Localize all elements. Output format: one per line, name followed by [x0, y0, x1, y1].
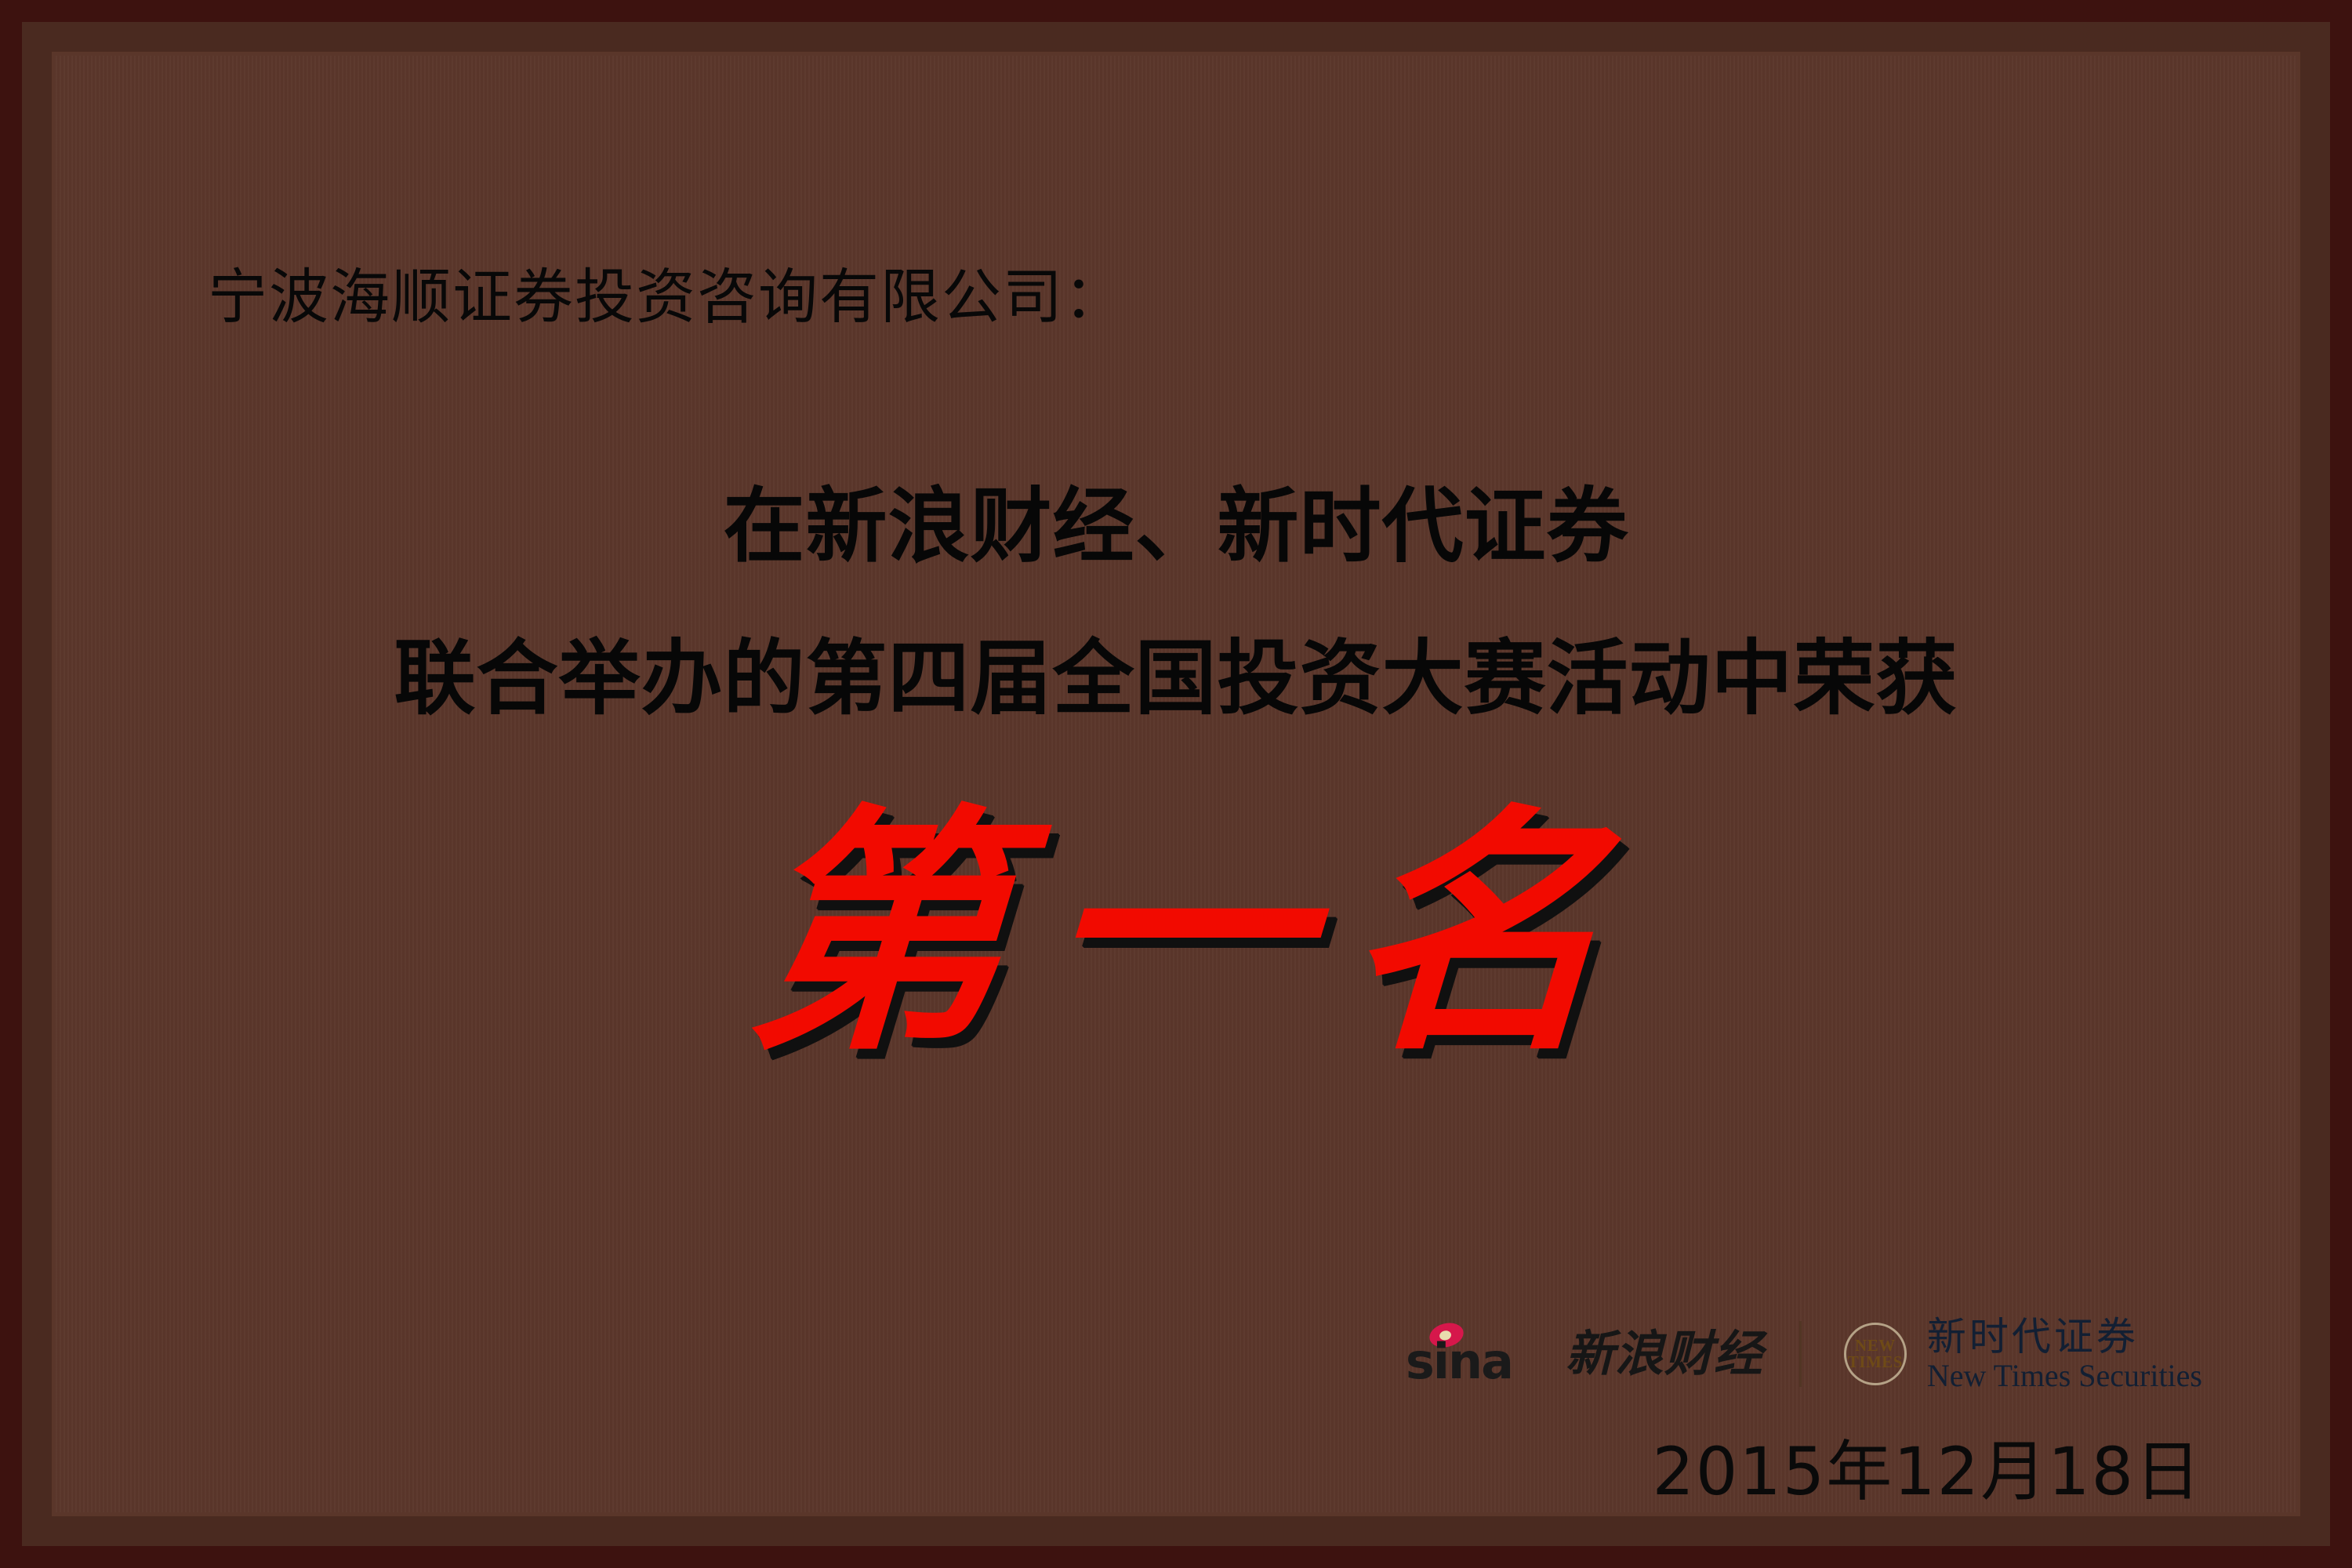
new-times-name-en: New Times Securities [1927, 1359, 2202, 1392]
new-times-emblem-line-2: TIMES [1848, 1354, 1903, 1370]
plaque-content: 宁波海顺证券投资咨询有限公司： 在新浪财经、新时代证券 联合举办的第四届全国投资… [56, 56, 2296, 1512]
new-times-name-cn: 新时代证券 [1927, 1316, 2202, 1358]
citation-line-1: 在新浪财经、新时代证券 [56, 485, 2296, 567]
plaque-frame-outer: 宁波海顺证券投资咨询有限公司： 在新浪财经、新时代证券 联合举办的第四届全国投资… [22, 22, 2330, 1546]
award-date: 2015年12月18日 [1652, 1439, 2202, 1504]
award-plaque: 宁波海顺证券投资咨询有限公司： 在新浪财经、新时代证券 联合举办的第四届全国投资… [0, 0, 2352, 1568]
award-rank-title: 第一名 [56, 808, 2296, 1067]
plaque-gold-panel: 宁波海顺证券投资咨询有限公司： 在新浪财经、新时代证券 联合举办的第四届全国投资… [56, 56, 2296, 1512]
sponsor-logo-row: sina 新浪财经 NEW TIMES 新时代证券 [1406, 1316, 2202, 1392]
new-times-emblem-line-1: NEW [1855, 1338, 1896, 1354]
sina-wordmark: sina [1406, 1325, 1555, 1383]
new-times-emblem-icon: NEW TIMES [1838, 1316, 1913, 1392]
plaque-frame-inner: 宁波海顺证券投资咨询有限公司： 在新浪财经、新时代证券 联合举办的第四届全国投资… [52, 52, 2300, 1516]
citation-line-2: 联合举办的第四届全国投资大赛活动中荣获 [56, 637, 2296, 719]
sina-finance-name-cn: 新浪财经 [1566, 1330, 1763, 1378]
recipient-salutation: 宁波海顺证券投资咨询有限公司： [208, 267, 1125, 330]
new-times-name-block: 新时代证券 New Times Securities [1927, 1316, 2202, 1392]
logo-divider [1799, 1321, 1802, 1387]
sina-finance-logo: sina 新浪财经 [1406, 1325, 1763, 1383]
sina-wordmark-text: sina [1406, 1338, 1512, 1386]
new-times-securities-logo: NEW TIMES 新时代证券 New Times Securities [1838, 1316, 2202, 1392]
